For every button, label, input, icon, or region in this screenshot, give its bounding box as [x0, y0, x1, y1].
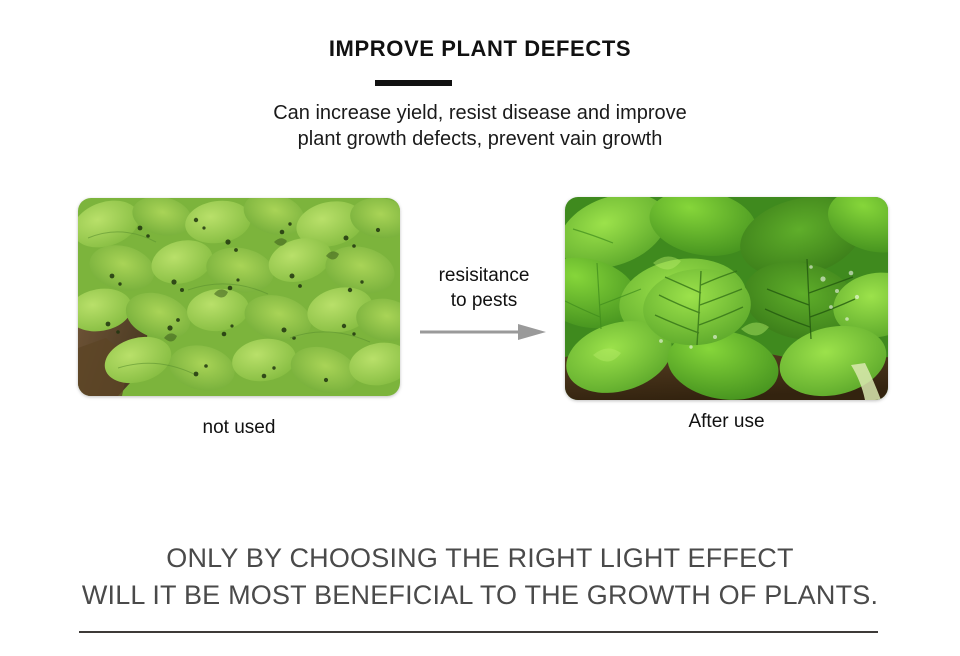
- arrow-label-line-2: to pests: [406, 288, 562, 313]
- after-photo-illustration: [565, 197, 888, 400]
- page-title: IMPROVE PLANT DEFECTS: [0, 36, 960, 62]
- page-subtitle: Can increase yield, resist disease and i…: [0, 100, 960, 152]
- arrow-label: resisitance to pests: [406, 263, 562, 313]
- after-caption: After use: [565, 411, 888, 433]
- subtitle-line-2: plant growth defects, prevent vain growt…: [0, 126, 960, 152]
- title-accent-bar: [375, 80, 452, 86]
- before-photo-illustration: [78, 198, 400, 396]
- footer-slogan: ONLY BY CHOOSING THE RIGHT LIGHT EFFECT …: [0, 540, 960, 614]
- arrow-right-icon: [420, 321, 546, 343]
- before-caption: not used: [78, 417, 400, 439]
- after-photo: [565, 197, 888, 400]
- arrow-label-line-1: resisitance: [406, 263, 562, 288]
- before-photo: [78, 198, 400, 396]
- promo-banner: IMPROVE PLANT DEFECTS Can increase yield…: [0, 0, 960, 656]
- subtitle-line-1: Can increase yield, resist disease and i…: [0, 100, 960, 126]
- footer-line-2: WILL IT BE MOST BENEFICIAL TO THE GROWTH…: [0, 577, 960, 614]
- footer-divider: [79, 631, 878, 633]
- arrow-right-icon-svg: [420, 321, 546, 343]
- footer-line-1: ONLY BY CHOOSING THE RIGHT LIGHT EFFECT: [0, 540, 960, 577]
